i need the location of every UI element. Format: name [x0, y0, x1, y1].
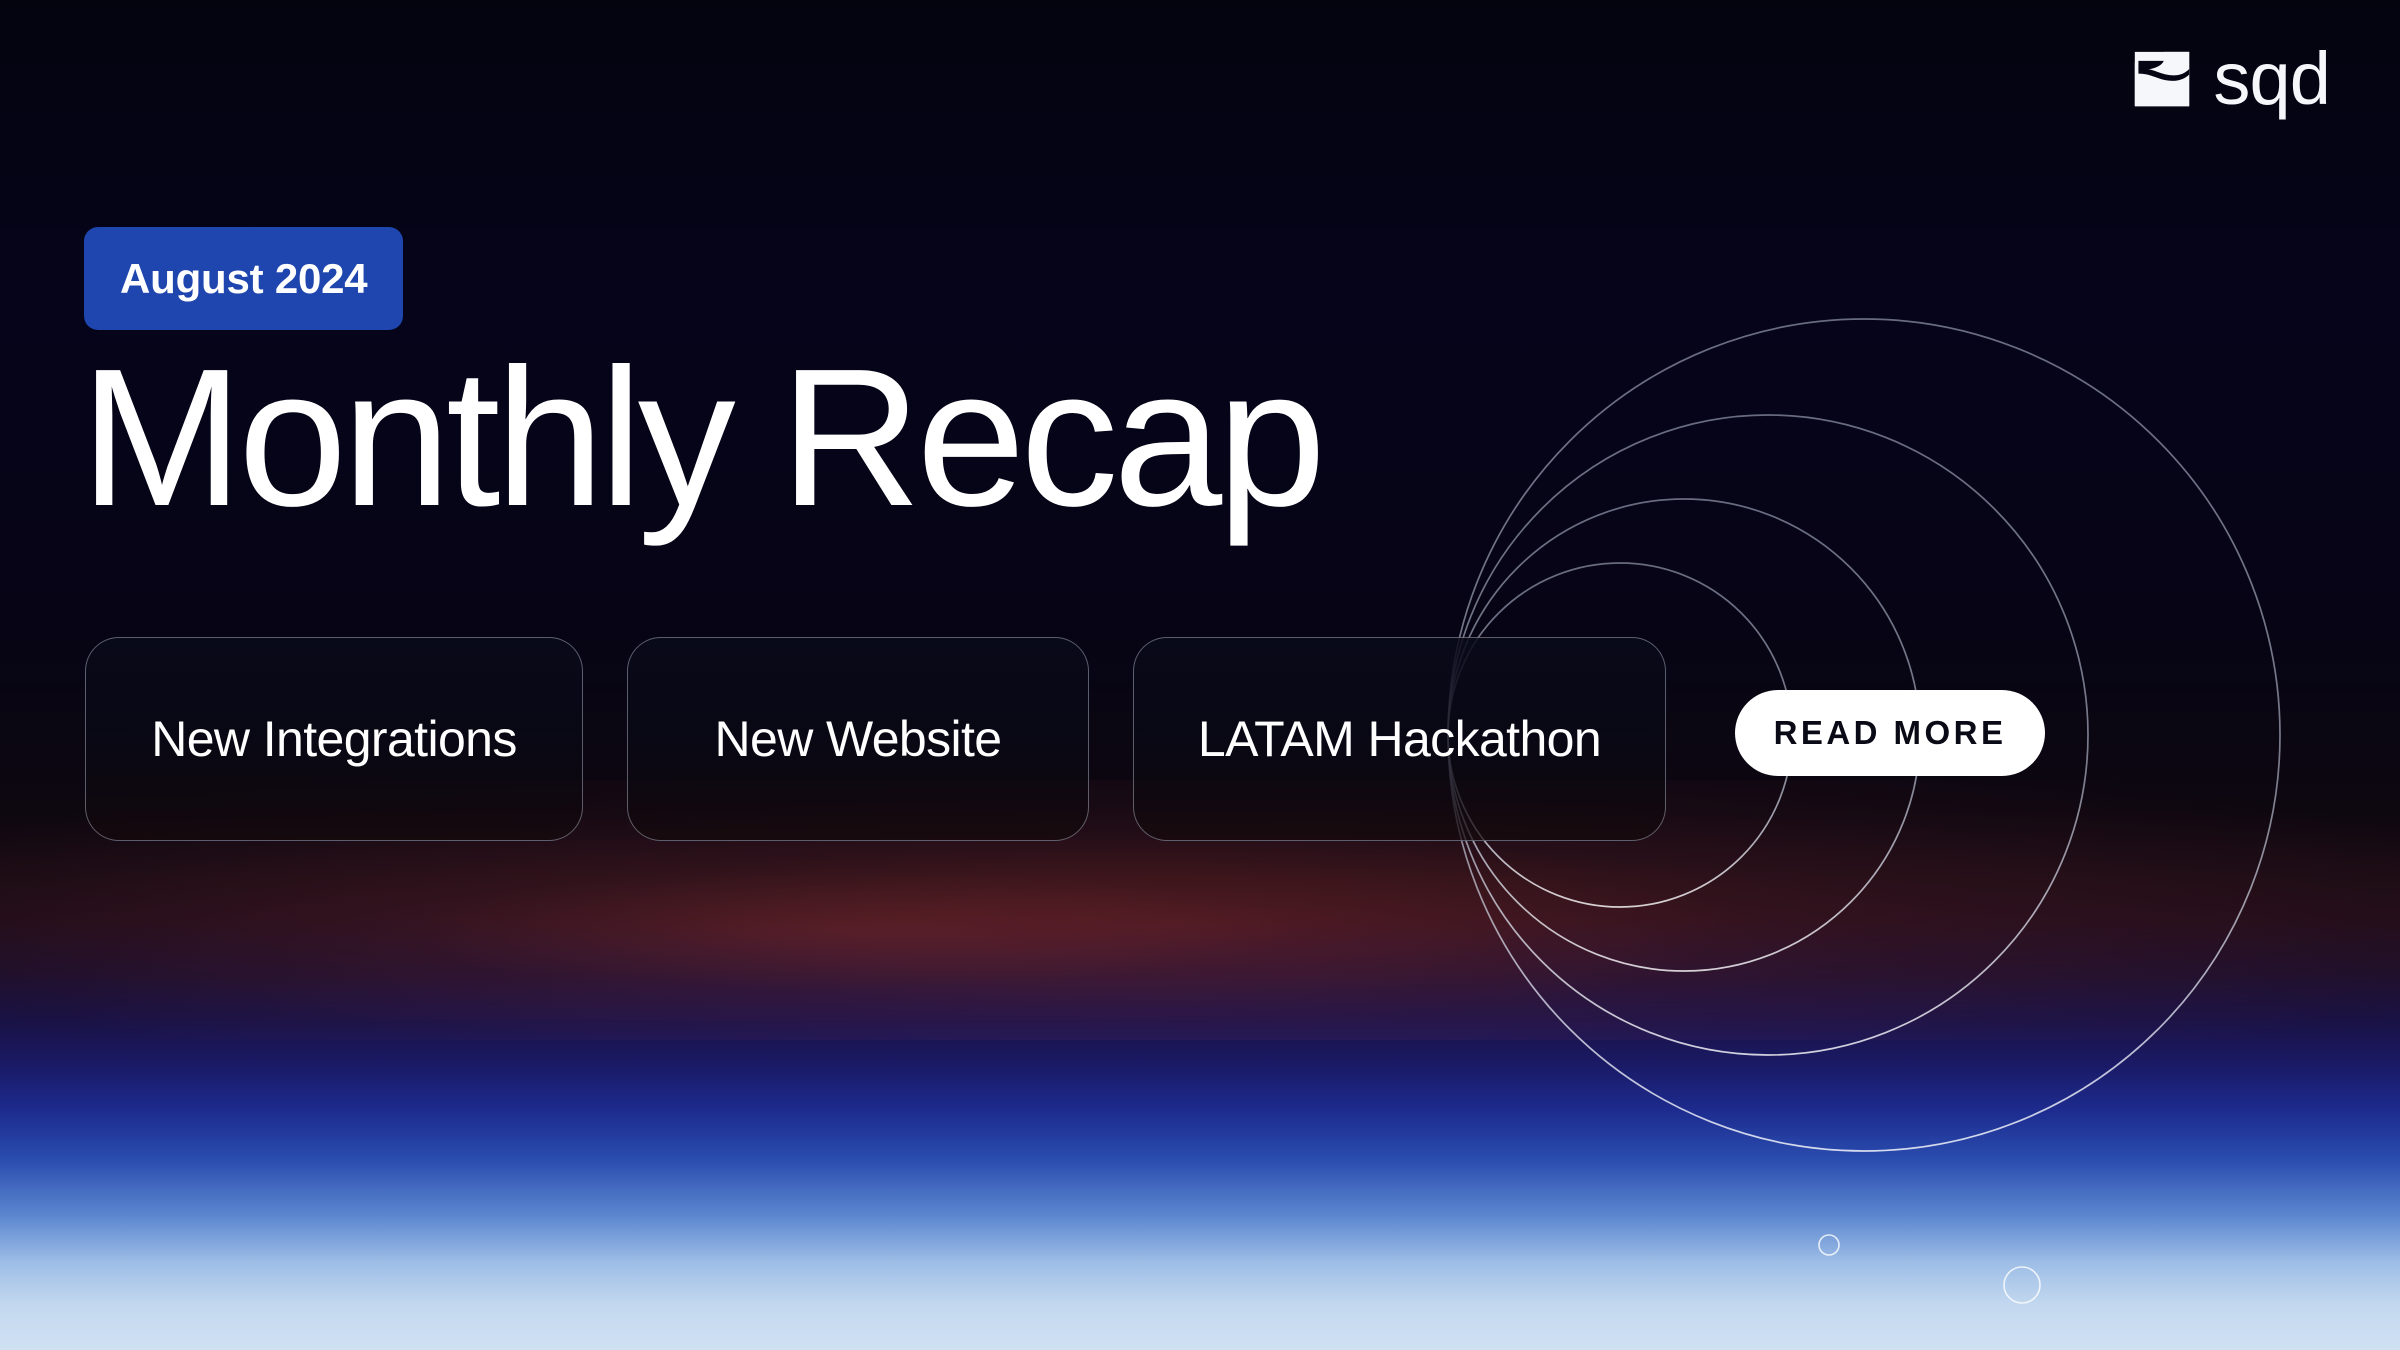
topic-chip-new-integrations[interactable]: New Integrations [85, 637, 583, 841]
read-more-button[interactable]: READ MORE [1735, 690, 2045, 776]
topic-chip-label: New Integrations [151, 710, 517, 768]
date-badge: August 2024 [84, 227, 403, 330]
topic-chip-label: New Website [714, 710, 1001, 768]
date-badge-label: August 2024 [120, 255, 367, 303]
background-warm-glow-secondary [0, 840, 2400, 1020]
topic-chip-new-website[interactable]: New Website [627, 637, 1089, 841]
recap-banner: sqd August 2024 Monthly Recap New Integr… [0, 0, 2400, 1350]
topic-chip-label: LATAM Hackathon [1198, 710, 1601, 768]
brand-wordmark: sqd [2213, 48, 2330, 110]
brand-logo[interactable]: sqd [2133, 48, 2330, 110]
topic-chip-latam-hackathon[interactable]: LATAM Hackathon [1133, 637, 1666, 841]
page-title: Monthly Recap [80, 340, 1580, 536]
topics-list: New Integrations New Website LATAM Hacka… [85, 637, 1666, 841]
read-more-label: READ MORE [1774, 714, 2007, 752]
sqd-logo-mark-icon [2133, 50, 2191, 108]
